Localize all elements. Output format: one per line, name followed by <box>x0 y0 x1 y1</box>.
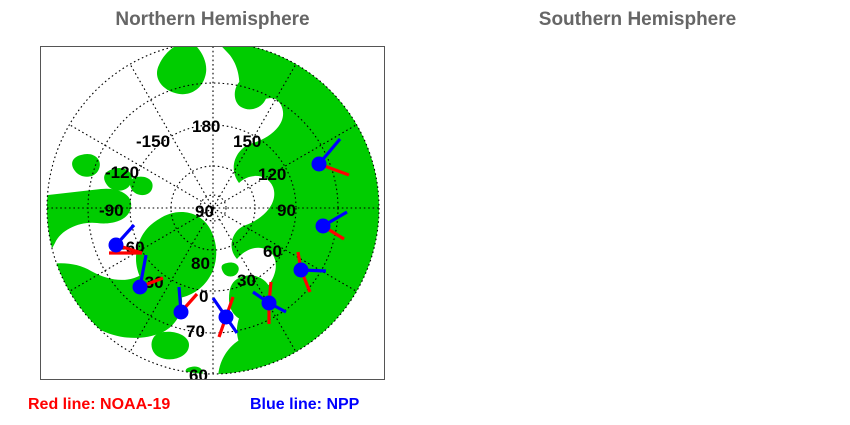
land-arctic-islands-a <box>157 47 206 94</box>
lon-label-90: 90 <box>277 201 296 220</box>
southern-hemisphere-title: Southern Hemisphere <box>425 8 850 32</box>
lon-label-120: 120 <box>258 165 286 184</box>
southern-hemisphere-panel: Southern Hemisphere <box>425 0 850 425</box>
satellite-track-figure: Northern Hemisphere <box>0 0 850 425</box>
north-polar-svg: 180 150 120 90 60 30 0 70 80 90 60 -30 -… <box>41 47 384 379</box>
lon-label-m150: -150 <box>136 132 170 151</box>
lon-label-m120: -120 <box>105 163 139 182</box>
lon-label-180: 180 <box>192 117 220 136</box>
northern-hemisphere-panel: Northern Hemisphere <box>0 0 425 425</box>
land-europe <box>218 330 336 379</box>
lat-label-60: 60 <box>189 366 208 379</box>
northern-hemisphere-title: Northern Hemisphere <box>0 8 425 32</box>
lon-label-30: 30 <box>237 271 256 290</box>
lat-label-70: 70 <box>186 322 205 341</box>
northern-hemisphere-plot: 180 150 120 90 60 30 0 70 80 90 60 -30 -… <box>40 46 385 380</box>
lat-label-80: 80 <box>191 254 210 273</box>
lon-label-m90: -90 <box>99 201 124 220</box>
lon-label-60: 60 <box>263 242 282 261</box>
land-iceland <box>152 332 190 360</box>
lon-label-150: 150 <box>233 132 261 151</box>
legend-npp: Blue line: NPP <box>250 396 359 414</box>
lat-label-90: 90 <box>195 202 214 221</box>
legend-noaa19: Red line: NOAA-19 <box>28 396 170 414</box>
lon-label-0: 0 <box>199 287 208 306</box>
land-small-isle-3 <box>160 377 177 379</box>
